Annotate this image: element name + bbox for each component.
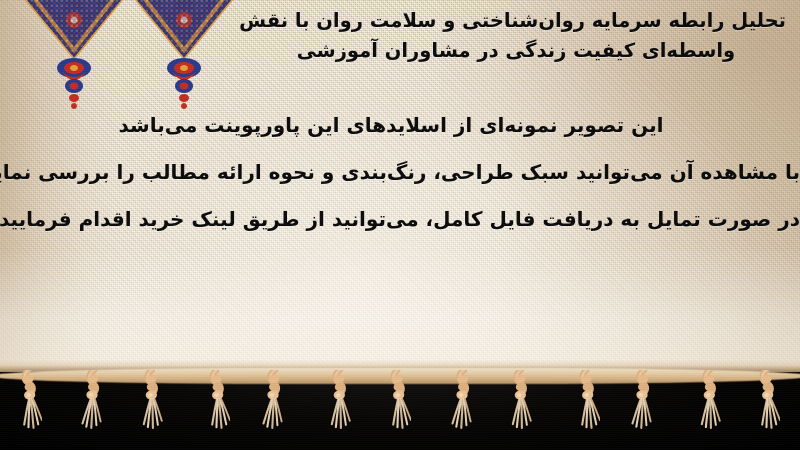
slide-body: این تصویر نمونه‌ای از اسلایدهای این پاور… xyxy=(0,108,800,236)
carpet-fringe-tassel xyxy=(139,370,165,444)
carpet-fringe-tassel xyxy=(327,370,353,444)
carpet-fringe-tassel xyxy=(81,370,107,444)
carpet-fringe-tassel xyxy=(16,370,42,444)
carpet-fringe-tassel xyxy=(262,370,288,444)
title-line-2: واسطه‌ای کیفیت زندگی در مشاوران آموزشی xyxy=(246,36,786,66)
carpet-fringe-tassel xyxy=(631,370,657,444)
carpet-fringe-tassel xyxy=(385,370,411,444)
body-line-3: در صورت تمایل به دریافت فایل کامل، می‌تو… xyxy=(0,202,800,236)
carpet-fringe-tassel xyxy=(754,370,780,444)
slide-canvas: تحلیل رابطه سرمایه روان‌شناختی و سلامت ر… xyxy=(0,0,800,450)
slide-title: تحلیل رابطه سرمایه روان‌شناختی و سلامت ر… xyxy=(246,6,786,66)
carpet-fringe-tassel xyxy=(697,370,723,444)
title-line-1: تحلیل رابطه سرمایه روان‌شناختی و سلامت ر… xyxy=(246,6,786,36)
carpet-bottom-edge xyxy=(0,364,800,450)
carpet-fringe-tassel xyxy=(204,370,230,444)
carpet-fringe-tassel xyxy=(451,370,477,444)
body-line-1: این تصویر نمونه‌ای از اسلایدهای این پاور… xyxy=(0,108,800,142)
body-line-2: با مشاهده آن می‌توانید سبک طراحی، رنگ‌بن… xyxy=(0,155,800,189)
carpet-fringe-tassel xyxy=(508,370,534,444)
carpet-fringe-tassel xyxy=(574,370,600,444)
